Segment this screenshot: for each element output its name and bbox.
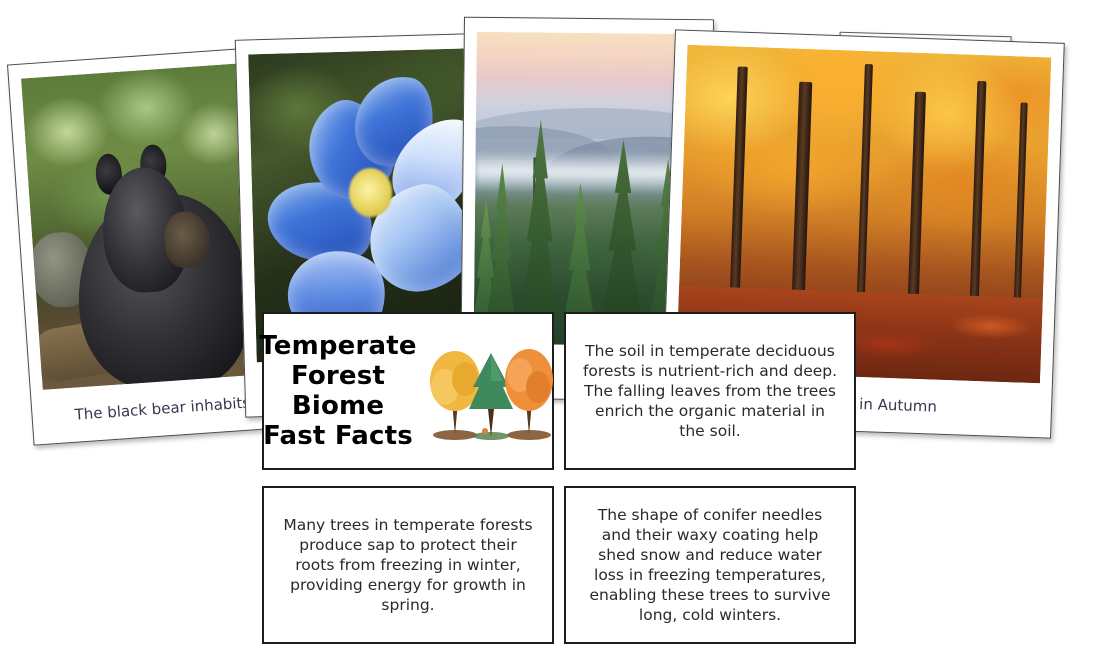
three-trees-icon [425,335,557,447]
title-text: Temperate Forest Biome Fast Facts [259,331,416,452]
title-line-1: Temperate [259,331,416,361]
title-line-2: Forest [259,361,416,391]
fact-text: The shape of conifer needles and their w… [582,505,838,626]
fact-card-soil[interactable]: The soil in temperate deciduous forests … [564,312,856,470]
fact-text: The soil in temperate deciduous forests … [582,341,838,442]
fact-card-conifer-needles[interactable]: The shape of conifer needles and their w… [564,486,856,644]
fact-card-sap[interactable]: Many trees in temperate forests produce … [262,486,554,644]
title-card[interactable]: Temperate Forest Biome Fast Facts [262,312,554,470]
fact-text: Many trees in temperate forests produce … [280,515,536,616]
card-set-canvas: The black bear inhabits [0,0,1120,664]
title-line-4: Fast Facts [259,421,416,451]
title-line-3: Biome [259,391,416,421]
